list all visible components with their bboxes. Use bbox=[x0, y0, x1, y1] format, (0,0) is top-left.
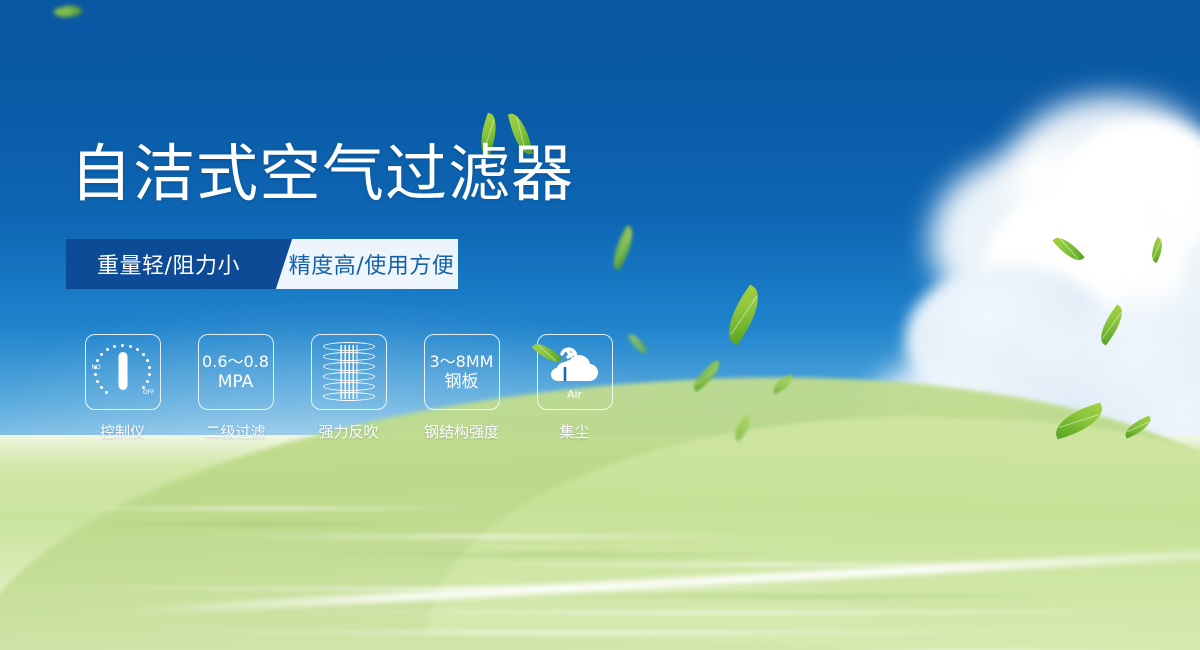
pressure-range: 0.6～0.8 bbox=[202, 352, 269, 371]
page-title: 自洁式空气过滤器 bbox=[70, 143, 574, 205]
air-caption: Air bbox=[545, 388, 605, 401]
feature-icon-box: 0.6～0.8 MPA bbox=[198, 334, 274, 410]
feature-label: 强力反吹 bbox=[318, 421, 378, 442]
subtitle-banner: 重量轻/阻力小 精度高/使用方便 bbox=[66, 239, 458, 289]
cloud-air-icon: Air bbox=[545, 344, 605, 400]
feature-item-steel[interactable]: 3～8MM 钢板 钢结构强度 bbox=[405, 334, 518, 442]
feature-icon-box: Air bbox=[537, 334, 613, 410]
feature-list: NO OFF 控制仪 0.6～0.8 MPA 二级过滤 bbox=[66, 334, 631, 442]
subtitle-right-label: 精度高/使用方便 bbox=[271, 239, 458, 289]
feature-label: 集尘 bbox=[559, 421, 589, 442]
pressure-value-icon: 0.6～0.8 MPA bbox=[202, 352, 269, 392]
steel-material: 钢板 bbox=[430, 372, 494, 392]
filter-coil-icon bbox=[323, 342, 375, 402]
hero-banner: 自洁式空气过滤器 重量轻/阻力小 精度高/使用方便 bbox=[0, 0, 1200, 650]
steel-plate-icon: 3～8MM 钢板 bbox=[430, 352, 494, 392]
subtitle-left-label: 重量轻/阻力小 bbox=[66, 239, 271, 289]
feature-icon-box bbox=[311, 334, 387, 410]
pressure-unit: MPA bbox=[202, 372, 269, 392]
feature-icon-box: NO OFF bbox=[85, 334, 161, 410]
feature-label: 钢结构强度 bbox=[424, 421, 499, 442]
feature-item-control-gauge[interactable]: NO OFF 控制仪 bbox=[66, 334, 179, 442]
feature-item-blowback[interactable]: 强力反吹 bbox=[292, 334, 405, 442]
gauge-dial-icon: NO OFF bbox=[93, 343, 153, 401]
gauge-label-no: NO bbox=[92, 364, 101, 371]
feature-label: 控制仪 bbox=[100, 421, 145, 442]
feature-icon-box: 3～8MM 钢板 bbox=[424, 334, 500, 410]
feature-item-dust-collection[interactable]: Air 集尘 bbox=[518, 334, 631, 442]
steel-thickness: 3～8MM bbox=[430, 352, 494, 371]
feature-label: 二级过滤 bbox=[205, 421, 265, 442]
feature-item-pressure[interactable]: 0.6～0.8 MPA 二级过滤 bbox=[179, 334, 292, 442]
grass-field bbox=[0, 435, 1200, 650]
gauge-label-off: OFF bbox=[143, 389, 155, 396]
